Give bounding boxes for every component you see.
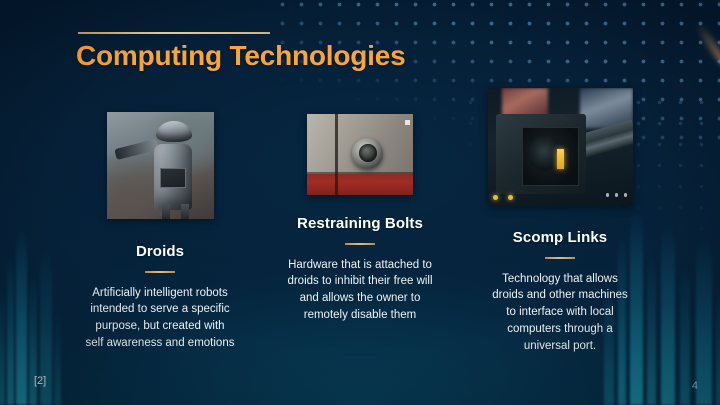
column-heading: Scomp Links <box>513 229 607 248</box>
heading-divider <box>145 271 175 273</box>
column-body-text: Artificially intelligent robots intended… <box>85 285 235 353</box>
restraining-bolt-photo <box>307 114 413 195</box>
content-column-scomp-links: Scomp Links Technology that allows droid… <box>475 84 645 355</box>
scomp-link-photo <box>488 88 633 206</box>
heading-divider <box>545 257 575 259</box>
content-column-droids: Droids Artificially intelligent robots i… <box>75 84 245 355</box>
page-number: 4 <box>692 380 698 392</box>
citation-reference: [2] <box>34 375 46 387</box>
presentation-slide: Computing Technologies Droids Artificial… <box>0 0 720 405</box>
heading-divider <box>345 243 375 245</box>
column-body-text: Technology that allows droids and other … <box>489 271 631 355</box>
column-body-text: Hardware that is attached to droids to i… <box>285 257 435 325</box>
column-heading: Restraining Bolts <box>297 215 423 234</box>
content-columns: Droids Artificially intelligent robots i… <box>0 84 720 355</box>
content-column-restraining-bolts: Restraining Bolts Hardware that is attac… <box>275 84 445 355</box>
column-heading: Droids <box>136 243 184 262</box>
droid-photo <box>107 112 214 219</box>
page-title: Computing Technologies <box>76 40 406 72</box>
title-underline-rule <box>78 32 270 34</box>
